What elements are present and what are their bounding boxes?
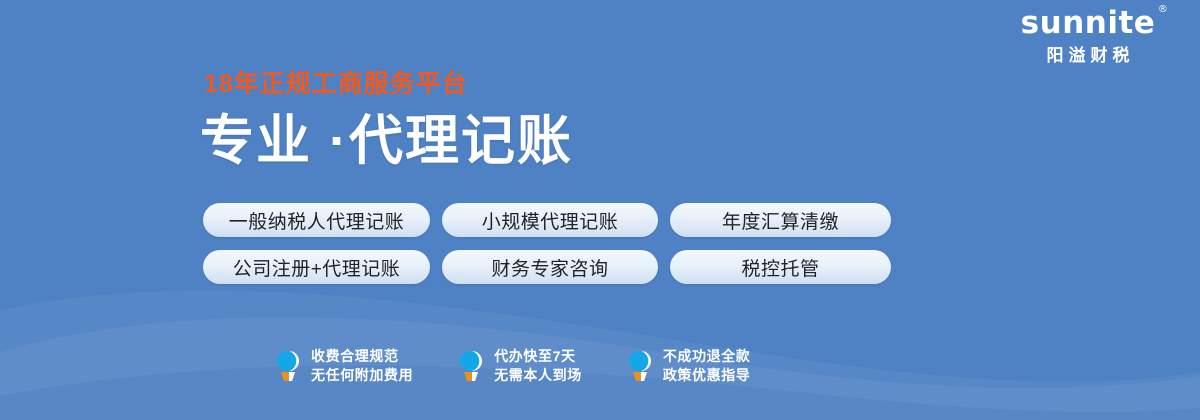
feature-item-pricing: 收费合理规范 无任何附加费用 xyxy=(276,348,413,382)
logo-wordmark: sunnite ® xyxy=(1021,8,1156,39)
service-tag-expert-consulting[interactable]: 财务专家咨询 xyxy=(442,250,658,284)
service-tag-tax-control-hosting[interactable]: 税控托管 xyxy=(670,250,891,284)
service-tag-annual-settlement[interactable]: 年度汇算清缴 xyxy=(670,203,891,237)
feature-text-speed: 代办快至7天 无需本人到场 xyxy=(494,349,582,382)
feature-line-2: 无任何附加费用 xyxy=(311,368,413,382)
headline-block: 18年正规工商服务平台 专业 ·代理记账 xyxy=(200,72,573,170)
feature-text-guarantee: 不成功退全款 政策优惠指导 xyxy=(663,349,751,382)
brand-logo[interactable]: sunnite ® 阳溢财税 xyxy=(998,8,1178,64)
service-tag-row-1: 一般纳税人代理记账 小规模代理记账 年度汇算清缴 xyxy=(203,203,891,237)
logo-subtitle: 阳溢财税 xyxy=(998,47,1178,64)
service-tag-list: 一般纳税人代理记账 小规模代理记账 年度汇算清缴 公司注册+代理记账 财务专家咨… xyxy=(203,203,891,297)
eyebrow-text: 18年正规工商服务平台 xyxy=(204,72,573,97)
feature-strip: 收费合理规范 无任何附加费用 代办快至7天 无需本人到场 xyxy=(276,348,750,382)
feature-item-speed: 代办快至7天 无需本人到场 xyxy=(459,348,582,382)
badge-icon xyxy=(628,348,654,382)
service-tag-general-taxpayer[interactable]: 一般纳税人代理记账 xyxy=(203,203,430,237)
service-tag-small-scale[interactable]: 小规模代理记账 xyxy=(442,203,658,237)
feature-line-1: 不成功退全款 xyxy=(663,349,751,363)
feature-line-1: 代办快至7天 xyxy=(494,349,582,363)
feature-item-guarantee: 不成功退全款 政策优惠指导 xyxy=(628,348,751,382)
badge-icon xyxy=(276,348,302,382)
feature-text-pricing: 收费合理规范 无任何附加费用 xyxy=(311,349,413,382)
service-tag-row-2: 公司注册+代理记账 财务专家咨询 税控托管 xyxy=(203,250,891,284)
feature-line-1: 收费合理规范 xyxy=(311,349,413,363)
badge-icon xyxy=(459,348,485,382)
promo-banner: sunnite ® 阳溢财税 18年正规工商服务平台 专业 ·代理记账 一般纳税… xyxy=(0,0,1200,420)
feature-line-2: 政策优惠指导 xyxy=(663,368,751,382)
feature-line-2: 无需本人到场 xyxy=(494,368,582,382)
page-title: 专业 ·代理记账 xyxy=(200,113,573,170)
registered-trademark-icon: ® xyxy=(1158,5,1169,15)
logo-wordmark-text: sunnite xyxy=(1021,5,1156,41)
service-tag-company-registration[interactable]: 公司注册+代理记账 xyxy=(203,250,430,284)
